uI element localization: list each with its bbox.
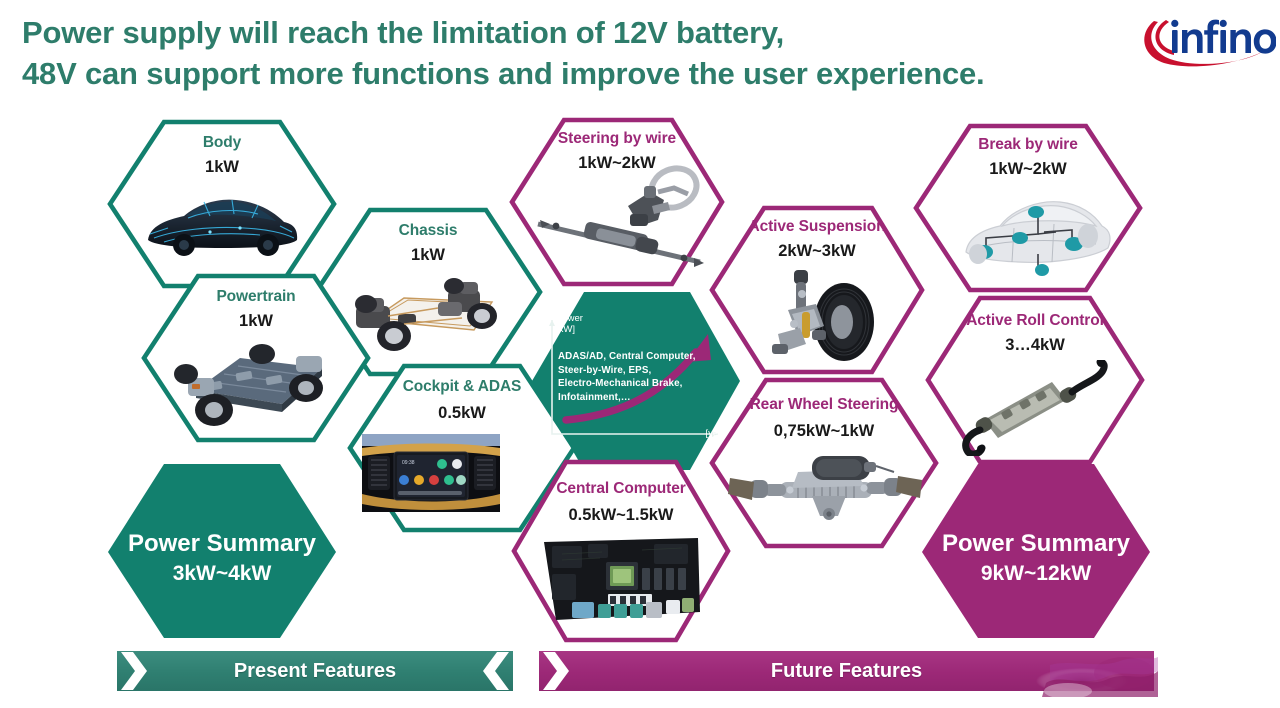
tie-rod-left — [728, 478, 786, 500]
rear-axle-steering-image — [726, 448, 924, 530]
banner-future-features[interactable]: Future Features — [539, 651, 1154, 691]
infineon-logo — [1136, 8, 1276, 70]
steering-rack-part — [538, 220, 704, 267]
chart-annotation: ADAS/AD, Central Computer, Steer-by-Wire… — [558, 350, 718, 404]
steering-rack-image — [532, 162, 708, 274]
banner-label: Present Features — [117, 651, 513, 691]
svg-text:09:38: 09:38 — [402, 460, 415, 466]
card-powertrain[interactable]: Powertrain 1kW — [140, 272, 372, 444]
suspension-strut-wheel-image — [758, 264, 884, 364]
logo-wordmark — [1171, 20, 1276, 54]
card-body[interactable]: Body 1kW — [106, 118, 338, 290]
card-active-suspension[interactable]: Active Suspension 2kW~3kW — [708, 204, 926, 376]
brake-by-wire-car-image — [952, 182, 1116, 282]
card-steering-by-wire[interactable]: Steering by wire 1kW~2kW — [508, 116, 726, 288]
page-title: Power supply will reach the limitation o… — [22, 12, 1102, 94]
infineon-logo-svg — [1136, 8, 1276, 70]
tie-rod-right — [866, 476, 922, 498]
logo-swoosh-tail-icon — [1156, 20, 1174, 55]
card-rear-wheel-steering[interactable]: Rear Wheel Steering 0,75kW~1kW — [708, 376, 940, 550]
banner-label: Future Features — [539, 651, 1154, 691]
card-active-roll-control[interactable]: Active Roll Control 3…4kW — [924, 294, 1146, 466]
roll-control-actuator-image — [954, 360, 1118, 456]
banner-present-features[interactable]: Present Features — [117, 651, 513, 691]
page-title-line-2: 48V can support more functions and impro… — [22, 53, 1102, 94]
central-computer-pcb-image — [542, 534, 702, 630]
ev-battery-skateboard-image — [166, 334, 346, 430]
chart-y-axis-label: Power[kW] — [556, 314, 626, 336]
car-body-wireframe-image — [140, 182, 304, 264]
infotainment-head-unit-image: 09:38 — [362, 434, 500, 512]
card-central-computer[interactable]: Central Computer 0.5kW~1.5kW — [510, 458, 732, 644]
power-summary-future[interactable]: Power Summary 9kW~12kW — [920, 462, 1152, 640]
power-summary-present[interactable]: Power Summary 3kW~4kW — [106, 462, 338, 640]
page-title-line-1: Power supply will reach the limitation o… — [22, 12, 1102, 53]
hex-diagram: Body 1kW — [0, 104, 1280, 664]
actuator-body — [974, 382, 1079, 438]
hexagon-fill — [108, 464, 336, 638]
strut-part — [772, 270, 826, 354]
hexagon-fill — [922, 464, 1150, 638]
card-break-by-wire[interactable]: Break by wire 1kW~2kW — [912, 122, 1144, 294]
